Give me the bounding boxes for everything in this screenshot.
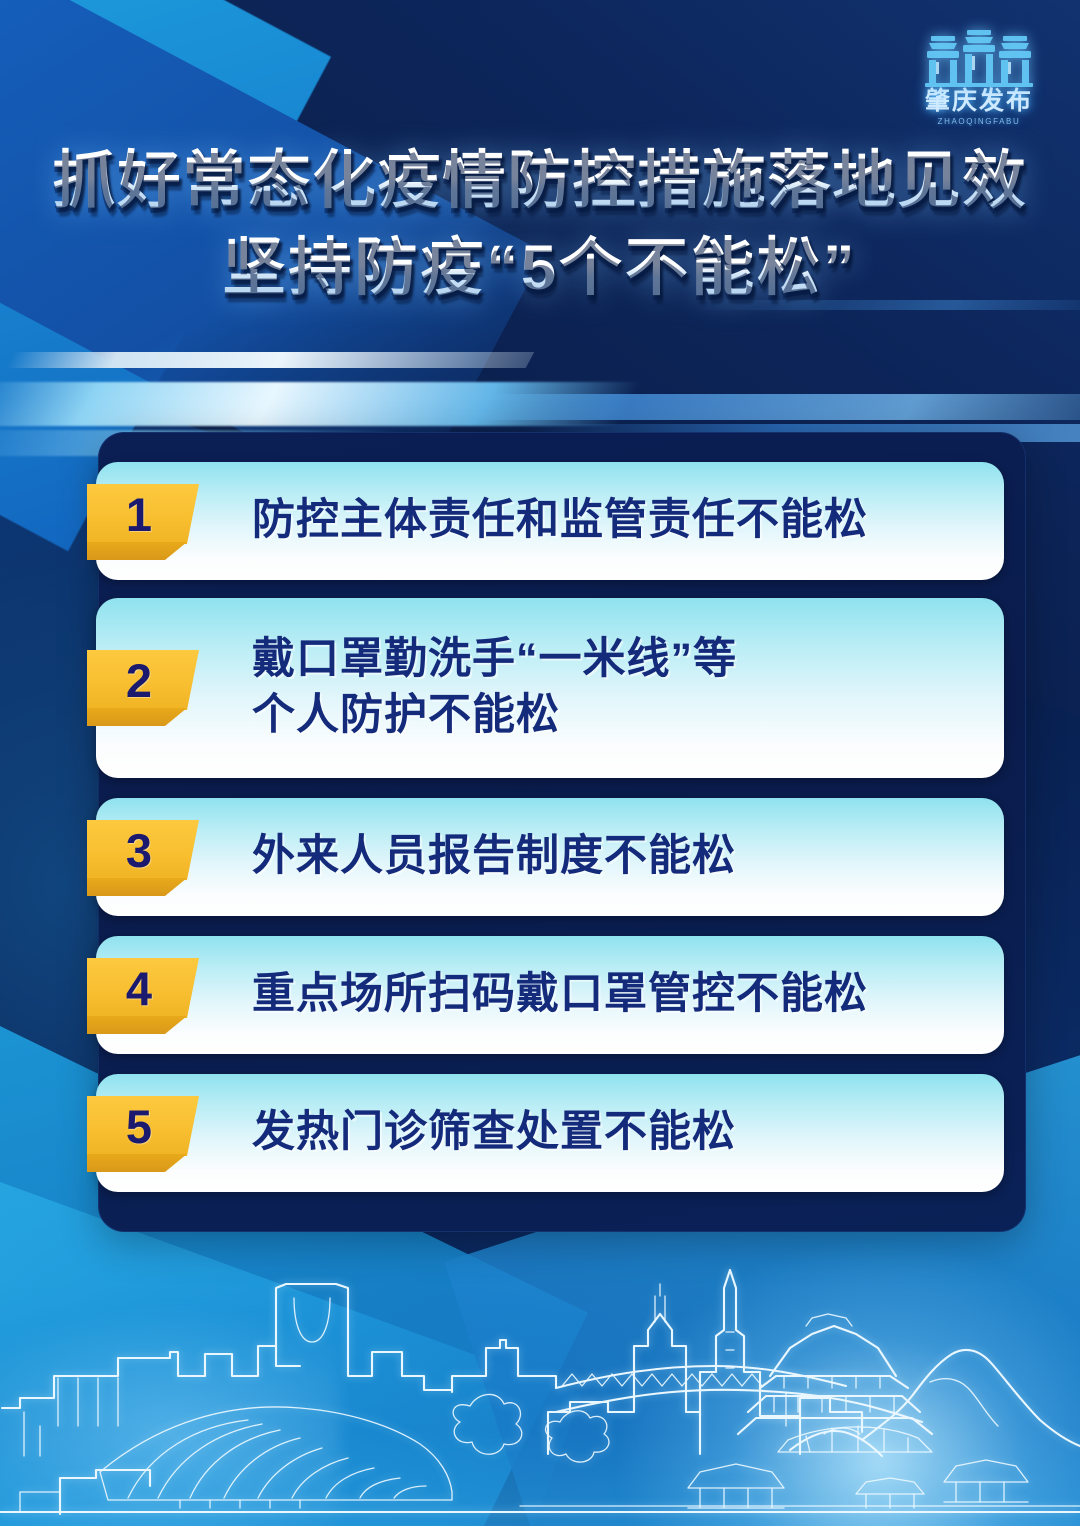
measures-panel: 防控主体责任和监管责任不能松 1 戴口罩勤洗手“一米线”等 个人防护不能松 2 bbox=[98, 432, 1026, 1232]
measure-line: 发热门诊筛查处置不能松 bbox=[252, 1105, 986, 1161]
measure-card: 防控主体责任和监管责任不能松 bbox=[96, 462, 1004, 580]
poster-title: 抓好常态化疫情防控措施落地见效 坚持防疫“5个不能松” bbox=[0, 138, 1080, 312]
title-line-2: 坚持防疫“5个不能松” bbox=[0, 225, 1080, 312]
badge-fold bbox=[87, 1016, 191, 1034]
measure-item-3[interactable]: 外来人员报告制度不能松 3 bbox=[98, 798, 1026, 916]
measure-line: 外来人员报告制度不能松 bbox=[252, 829, 986, 885]
measure-number-badge: 4 bbox=[87, 958, 199, 1036]
logo-title-cn: 肇庆发布 bbox=[906, 89, 1052, 114]
measure-number-badge: 2 bbox=[87, 650, 199, 728]
measure-item-2[interactable]: 戴口罩勤洗手“一米线”等 个人防护不能松 2 bbox=[98, 598, 1026, 778]
badge-number: 2 bbox=[87, 650, 191, 710]
measure-item-5[interactable]: 发热门诊筛查处置不能松 5 bbox=[98, 1074, 1026, 1192]
measure-item-1[interactable]: 防控主体责任和监管责任不能松 1 bbox=[98, 462, 1026, 580]
measure-card: 发热门诊筛查处置不能松 bbox=[96, 1074, 1004, 1192]
poster-root: 肇庆发布 ZHAOQINGFABU 抓好常态化疫情防控措施落地见效 坚持防疫“5… bbox=[0, 0, 1080, 1526]
measure-text: 发热门诊筛查处置不能松 bbox=[252, 1074, 986, 1192]
badge-fold bbox=[87, 1154, 191, 1172]
measure-number-badge: 3 bbox=[87, 820, 199, 898]
badge-number: 5 bbox=[87, 1096, 191, 1156]
measure-card: 外来人员报告制度不能松 bbox=[96, 798, 1004, 916]
badge-number: 1 bbox=[87, 484, 191, 544]
measure-text: 戴口罩勤洗手“一米线”等 个人防护不能松 bbox=[252, 598, 986, 778]
logo-title-en: ZHAOQINGFABU bbox=[906, 117, 1052, 126]
measure-text: 防控主体责任和监管责任不能松 bbox=[252, 462, 986, 580]
badge-fold bbox=[87, 542, 191, 560]
measure-card: 重点场所扫码戴口罩管控不能松 bbox=[96, 936, 1004, 1054]
measure-item-4[interactable]: 重点场所扫码戴口罩管控不能松 4 bbox=[98, 936, 1026, 1054]
zhaoqing-release-logo: 肇庆发布 ZHAOQINGFABU bbox=[906, 26, 1052, 134]
bg-streak-1 bbox=[6, 352, 535, 368]
city-skyline-illustration bbox=[0, 1226, 1080, 1526]
badge-number: 4 bbox=[87, 958, 191, 1018]
city-gate-icon bbox=[923, 26, 1035, 88]
badge-number: 3 bbox=[87, 820, 191, 880]
badge-fold bbox=[87, 708, 191, 726]
measure-line: 重点场所扫码戴口罩管控不能松 bbox=[252, 967, 986, 1023]
measure-text: 重点场所扫码戴口罩管控不能松 bbox=[252, 936, 986, 1054]
measure-card: 戴口罩勤洗手“一米线”等 个人防护不能松 bbox=[96, 598, 1004, 778]
measure-line: 戴口罩勤洗手“一米线”等 bbox=[252, 632, 986, 688]
measure-number-badge: 5 bbox=[87, 1096, 199, 1174]
measure-text: 外来人员报告制度不能松 bbox=[252, 798, 986, 916]
bg-streak-3 bbox=[373, 394, 1080, 420]
measure-number-badge: 1 bbox=[87, 484, 199, 562]
title-line-1: 抓好常态化疫情防控措施落地见效 bbox=[0, 138, 1080, 225]
badge-fold bbox=[87, 878, 191, 896]
measure-line: 个人防护不能松 bbox=[252, 688, 986, 744]
measure-line: 防控主体责任和监管责任不能松 bbox=[252, 493, 986, 549]
bg-streak-2 bbox=[0, 382, 642, 426]
